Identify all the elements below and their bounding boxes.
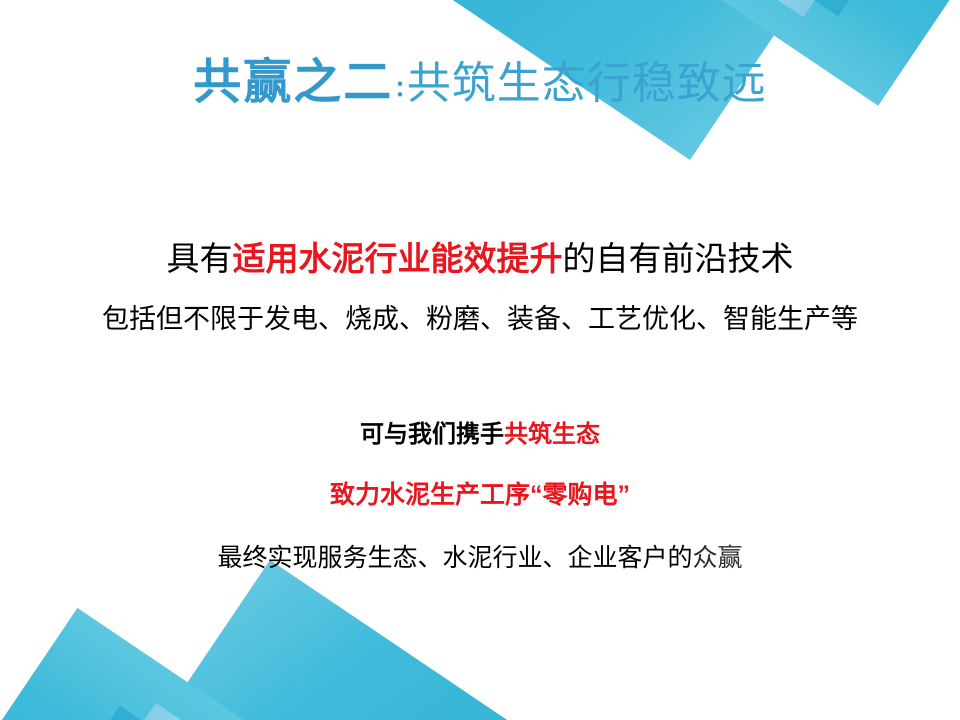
partnership-prefix: 可与我们携手 xyxy=(360,421,504,448)
tech-statement-highlight: 适用水泥行业能效提升 xyxy=(233,240,563,277)
final-outcome-line: 最终实现服务生态、水泥行业、企业客户的众赢 xyxy=(0,543,960,574)
tech-statement-prefix: 具有 xyxy=(167,240,233,277)
zero-power-line: 致力水泥生产工序“零购电” xyxy=(0,480,960,511)
slide-title-sub: 共筑生态行稳致远 xyxy=(407,58,767,109)
partnership-line: 可与我们携手共筑生态 xyxy=(0,420,960,450)
slide-title-colon: : xyxy=(393,65,406,105)
slide-title: 共赢之二:共筑生态行稳致远 xyxy=(0,58,960,106)
final-outcome-emphasis: 众赢 xyxy=(693,544,743,572)
partnership-highlight: 共筑生态 xyxy=(504,421,600,448)
top-right-light-band xyxy=(588,0,838,17)
tech-statement-line: 具有适用水泥行业能效提升的自有前沿技术 xyxy=(0,238,960,279)
bottom-left-mid-band xyxy=(36,706,369,720)
top-right-mid-band xyxy=(589,0,922,16)
slide-title-main: 共赢之二 xyxy=(193,54,393,110)
slide-canvas: 共赢之二:共筑生态行稳致远 具有适用水泥行业能效提升的自有前沿技术 包括但不限于… xyxy=(0,0,960,720)
final-outcome-prefix: 最终实现服务生态、水泥行业、企业客户的 xyxy=(217,544,692,572)
bottom-left-dark-band xyxy=(0,608,359,720)
bottom-left-light-band xyxy=(120,703,375,720)
bottom-left-wedge-shape xyxy=(35,560,519,720)
scope-list-line: 包括但不限于发电、烧成、粉磨、装备、工艺优化、智能生产等 xyxy=(0,303,960,337)
tech-statement-suffix: 的自有前沿技术 xyxy=(563,240,794,277)
